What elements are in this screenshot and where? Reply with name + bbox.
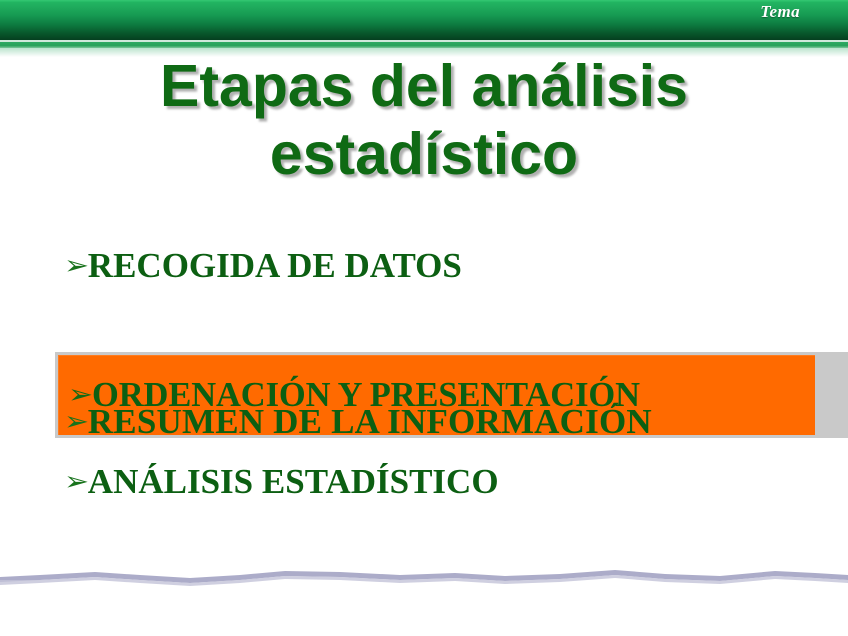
list-item-label: ORDENACIÓN Y PRESENTACIÓN — [92, 376, 640, 414]
slide-header-banner: Tema — [0, 0, 848, 40]
list-item[interactable]: ➢ RECOGIDA DE DATOS — [0, 236, 848, 296]
list-item-label: ANÁLISIS ESTADÍSTICO — [88, 463, 499, 501]
banner-title-tema: Tema — [760, 2, 800, 22]
footer-wave-decoration — [0, 556, 848, 592]
page-title-line-1: Etapas del análisis — [40, 52, 808, 120]
banner-top-highlight — [0, 0, 848, 2]
slide-canvas: Tema Etapas del análisis estadístico ➢ R… — [0, 0, 848, 636]
list-item-label: RECOGIDA DE DATOS — [88, 247, 462, 285]
page-title: Etapas del análisis estadístico — [40, 52, 808, 188]
bullet-list: ➢ RECOGIDA DE DATOS ➢ ORDENACIÓN Y PRESE… — [0, 236, 848, 512]
list-item[interactable]: ➢ ANÁLISIS ESTADÍSTICO — [0, 452, 848, 512]
arrow-bullet-icon: ➢ — [68, 382, 93, 408]
page-title-line-2: estadístico — [40, 120, 808, 188]
arrow-bullet-icon: ➢ — [64, 253, 89, 279]
list-item-highlighted[interactable]: ➢ ORDENACIÓN Y PRESENTACIÓN — [0, 296, 848, 392]
arrow-bullet-icon: ➢ — [64, 469, 89, 495]
